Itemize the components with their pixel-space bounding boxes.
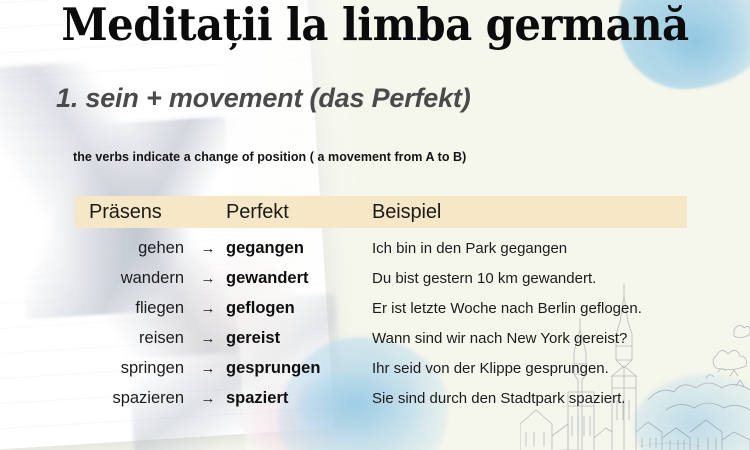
- table-row: reisen → gereist Wann sind wir nach New …: [75, 323, 687, 353]
- cell-perfekt: gereist: [226, 329, 366, 348]
- cell-praesens: springen: [75, 359, 190, 378]
- arrow-right-icon: →: [190, 331, 226, 346]
- cell-praesens: gehen: [75, 239, 190, 258]
- column-header-perfekt: Perfekt: [226, 201, 366, 224]
- cell-beispiel: Du bist gestern 10 km gewandert.: [366, 270, 687, 287]
- page-title: Meditații la limba germană: [26, 0, 724, 51]
- table-row: springen → gesprungen Ihr seid von der K…: [75, 353, 687, 383]
- cell-perfekt: geflogen: [226, 299, 366, 318]
- verb-conjugation-table: Präsens Perfekt Beispiel gehen → gegange…: [75, 196, 687, 413]
- arrow-right-icon: →: [190, 361, 226, 376]
- arrow-right-icon: →: [190, 391, 226, 406]
- arrow-right-icon: →: [190, 271, 226, 286]
- cell-perfekt: gewandert: [226, 269, 366, 288]
- cell-beispiel: Ich bin in den Park gegangen: [366, 240, 687, 257]
- table-row: gehen → gegangen Ich bin in den Park geg…: [75, 233, 687, 263]
- cell-beispiel: Sie sind durch den Stadtpark spaziert.: [366, 390, 687, 407]
- column-header-beispiel: Beispiel: [366, 201, 687, 224]
- section-subtitle: 1. sein + movement (das Perfekt): [56, 83, 471, 114]
- table-row: fliegen → geflogen Er ist letzte Woche n…: [75, 293, 687, 323]
- table-body: gehen → gegangen Ich bin in den Park geg…: [75, 233, 687, 413]
- column-header-praesens: Präsens: [75, 201, 190, 224]
- cell-praesens: spazieren: [75, 389, 190, 408]
- table-row: wandern → gewandert Du bist gestern 10 k…: [75, 263, 687, 293]
- cell-beispiel: Er ist letzte Woche nach Berlin geflogen…: [366, 300, 687, 317]
- cell-praesens: reisen: [75, 329, 190, 348]
- cell-praesens: fliegen: [75, 299, 190, 318]
- cell-perfekt: gegangen: [226, 239, 366, 258]
- arrow-right-icon: →: [190, 301, 226, 316]
- table-header-row: Präsens Perfekt Beispiel: [75, 196, 687, 228]
- slide-canvas: Meditații la limba germană 1. sein + mov…: [0, 0, 750, 450]
- cell-perfekt: gesprungen: [226, 359, 366, 378]
- cell-beispiel: Wann sind wir nach New York gereist?: [366, 330, 687, 347]
- explanatory-note: the verbs indicate a change of position …: [73, 150, 466, 164]
- arrow-right-icon: →: [190, 241, 226, 256]
- cell-beispiel: Ihr seid von der Klippe gesprungen.: [366, 360, 687, 377]
- table-row: spazieren → spaziert Sie sind durch den …: [75, 383, 687, 413]
- cell-perfekt: spaziert: [226, 389, 366, 408]
- cell-praesens: wandern: [75, 269, 190, 288]
